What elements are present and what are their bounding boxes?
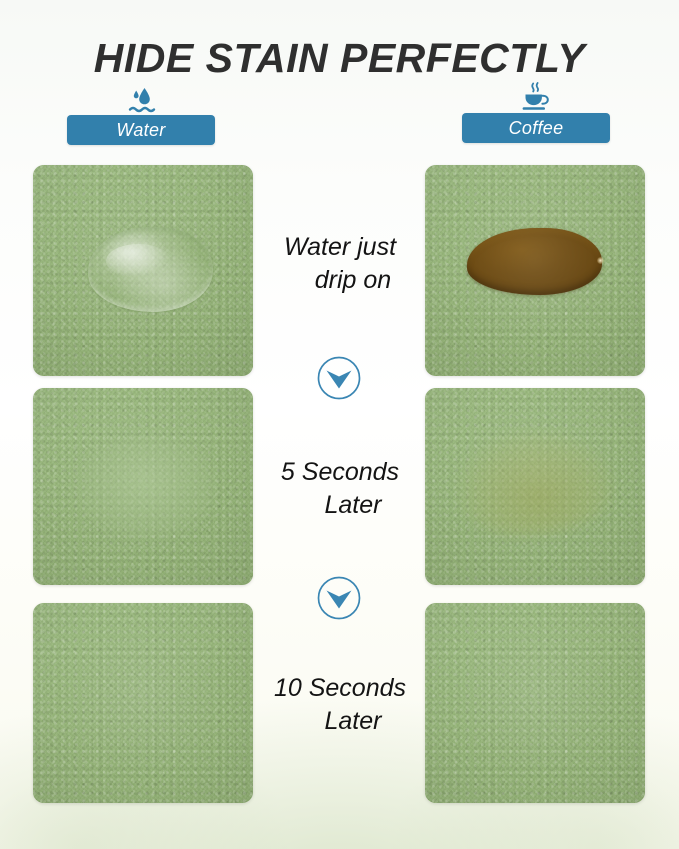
infographic-root: HIDE STAIN PERFECTLY Water Coffee: [0, 0, 679, 849]
caption-stage-1: Water just drip on: [220, 231, 460, 297]
coffee-cup-icon: [462, 84, 610, 114]
page-title: HIDE STAIN PERFECTLY: [0, 34, 679, 82]
caption-stage-1-line-2: drip on: [220, 264, 460, 297]
caption-stage-3-line-2: Later: [220, 705, 460, 738]
badge-water-label: Water: [116, 120, 165, 141]
caption-stage-2-line-2: Later: [220, 489, 460, 522]
caption-stage-3-line-1: 10 Seconds: [274, 674, 406, 702]
caption-stage-2: 5 Seconds Later: [220, 456, 460, 522]
column-header-coffee: Coffee: [462, 84, 610, 143]
down-arrow-icon-1: [316, 355, 362, 401]
badge-coffee[interactable]: Coffee: [462, 113, 610, 143]
water-drop-icon: [67, 86, 215, 116]
badge-water[interactable]: Water: [67, 115, 215, 145]
caption-stage-2-line-1: 5 Seconds: [281, 458, 399, 486]
down-arrow-icon-2: [316, 575, 362, 621]
badge-coffee-label: Coffee: [509, 118, 564, 139]
caption-stage-3: 10 Seconds Later: [220, 672, 460, 738]
column-header-water: Water: [67, 86, 215, 145]
caption-stage-1-line-1: Water just: [284, 233, 396, 261]
